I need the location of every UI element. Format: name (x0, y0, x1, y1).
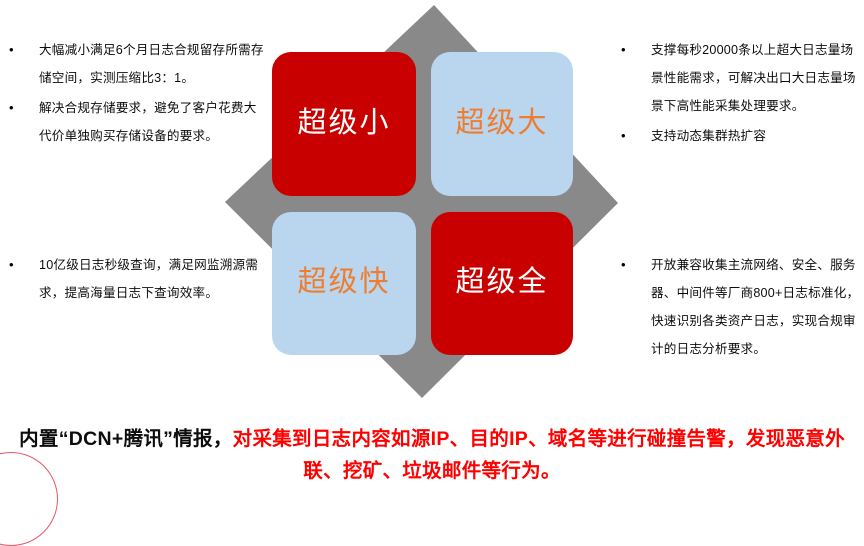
quadrant-tile-label: 超级快 (297, 268, 390, 299)
bullet-column-top-right: • 支撑每秒20000条以上超大日志量场景性能需求，可解决出口大日志量场景下高性… (612, 36, 864, 152)
quadrant-tile-label: 超级全 (455, 268, 548, 299)
quadrant-tile-top-left[interactable]: 超级小 (272, 52, 416, 196)
quadrant-tile-label: 超级小 (297, 109, 390, 140)
quadrant-diagram: 超级小 超级大 超级快 超级全 (218, 0, 628, 410)
bullet-dot-icon: • (9, 251, 14, 279)
bullet-text: 支撑每秒20000条以上超大日志量场景性能需求，可解决出口大日志量场景下高性能采… (651, 43, 856, 113)
bottom-caption: 内置“DCN+腾讯”情报，对采集到日志内容如源IP、目的IP、域名等进行碰撞告警… (0, 423, 864, 487)
quadrant-tile-label: 超级大 (455, 109, 548, 140)
bullet-dot-icon: • (9, 94, 14, 122)
bullet-list: • 支撑每秒20000条以上超大日志量场景性能需求，可解决出口大日志量场景下高性… (612, 36, 864, 150)
bullet-text: 支持动态集群热扩容 (651, 129, 766, 143)
list-item: • 支撑每秒20000条以上超大日志量场景性能需求，可解决出口大日志量场景下高性… (612, 36, 864, 120)
quadrant-tile-bottom-left[interactable]: 超级快 (272, 212, 416, 355)
bullet-dot-icon: • (9, 36, 14, 64)
bullet-text: 开放兼容收集主流网络、安全、服务器、中间件等厂商800+日志标准化，快速识别各类… (651, 258, 859, 356)
quadrant-tile-top-right[interactable]: 超级大 (431, 52, 573, 196)
bullet-list: • 开放兼容收集主流网络、安全、服务器、中间件等厂商800+日志标准化，快速识别… (612, 251, 864, 363)
caption-highlight-text: 对采集到日志内容如源IP、目的IP、域名等进行碰撞告警，发现恶意外联、挖矿、垃圾… (233, 428, 845, 482)
quadrant-tile-bottom-right[interactable]: 超级全 (431, 212, 573, 355)
list-item: • 支持动态集群热扩容 (612, 122, 864, 150)
list-item: • 开放兼容收集主流网络、安全、服务器、中间件等厂商800+日志标准化，快速识别… (612, 251, 864, 363)
caption-lead-text: 内置“DCN+腾讯”情报， (19, 428, 233, 450)
bullet-column-bottom-right: • 开放兼容收集主流网络、安全、服务器、中间件等厂商800+日志标准化，快速识别… (612, 251, 864, 365)
